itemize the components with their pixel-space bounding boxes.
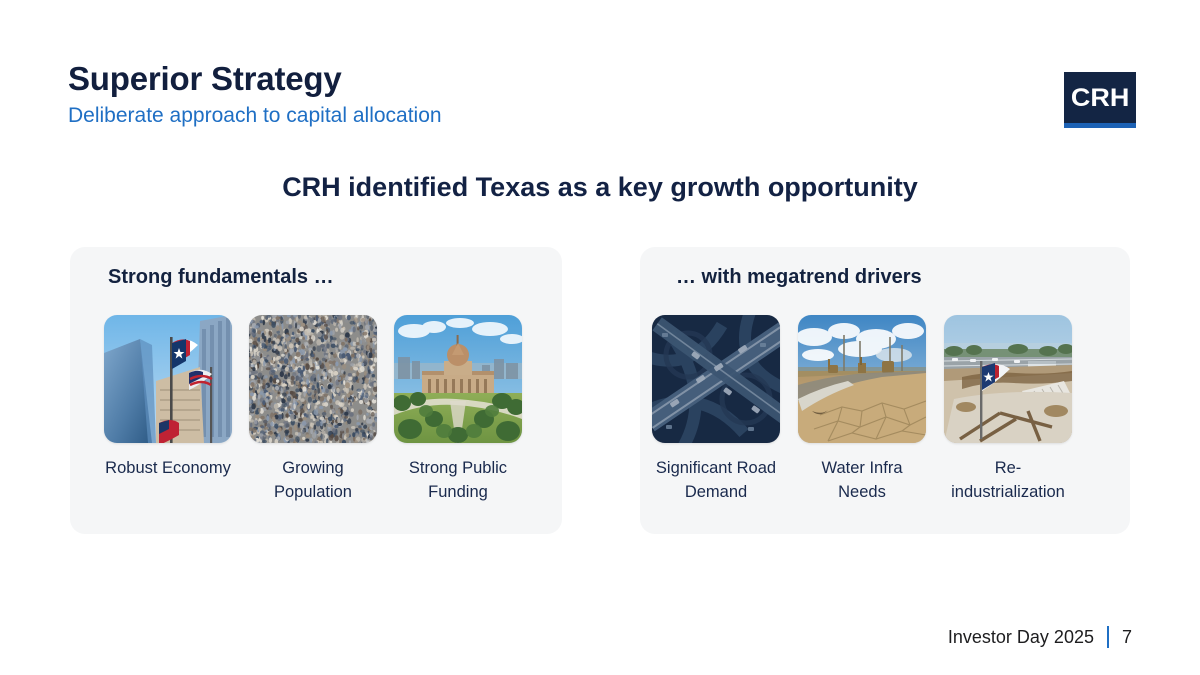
card-re-industrialization[interactable]: Re-industrialization — [944, 315, 1072, 505]
crh-logo: CRH — [1064, 72, 1136, 128]
card-list: Robust Economy Growing Populati — [104, 315, 522, 505]
panel-megatrend-drivers: … with megatrend drivers — [640, 247, 1130, 534]
card-significant-road-demand[interactable]: Significant Road Demand — [652, 315, 780, 505]
construction-site-texas-flag-photo — [944, 315, 1072, 443]
slide-header: Superior Strategy Deliberate approach to… — [68, 60, 442, 130]
content-panels: Strong fundamentals … — [70, 247, 1130, 534]
card-caption: Strong Public Funding — [394, 456, 522, 505]
page-title: Superior Strategy — [68, 60, 442, 99]
panel-title: Strong fundamentals … — [108, 266, 334, 289]
card-growing-population[interactable]: Growing Population — [249, 315, 377, 505]
slide: Superior Strategy Deliberate approach to… — [0, 0, 1200, 675]
footer-event-label: Investor Day 2025 — [948, 627, 1094, 648]
card-caption: Significant Road Demand — [652, 456, 780, 505]
card-caption: Re-industrialization — [944, 456, 1072, 505]
crh-logo-accent-bar — [1064, 123, 1136, 128]
card-water-infra-needs[interactable]: Water Infra Needs — [798, 315, 926, 505]
card-list: Significant Road Demand — [652, 315, 1072, 505]
panel-strong-fundamentals: Strong fundamentals … — [70, 247, 562, 534]
card-strong-public-funding[interactable]: Strong Public Funding — [394, 315, 522, 505]
card-robust-economy[interactable]: Robust Economy — [104, 315, 232, 505]
card-caption: Robust Economy — [104, 456, 232, 480]
dry-canal-construction-photo — [798, 315, 926, 443]
footer: Investor Day 2025 7 — [948, 626, 1132, 648]
card-caption: Growing Population — [249, 456, 377, 505]
footer-separator — [1107, 626, 1109, 648]
footer-page-number: 7 — [1122, 627, 1132, 648]
page-subtitle: Deliberate approach to capital allocatio… — [68, 102, 442, 130]
crh-logo-text: CRH — [1071, 84, 1130, 113]
card-caption: Water Infra Needs — [798, 456, 926, 505]
highway-interchange-photo — [652, 315, 780, 443]
crowd-aerial-photo — [249, 315, 377, 443]
panel-title: … with megatrend drivers — [676, 266, 922, 289]
texas-capitol-photo — [394, 315, 522, 443]
texas-flag-skyscrapers-photo — [104, 315, 232, 443]
headline: CRH identified Texas as a key growth opp… — [0, 172, 1200, 203]
